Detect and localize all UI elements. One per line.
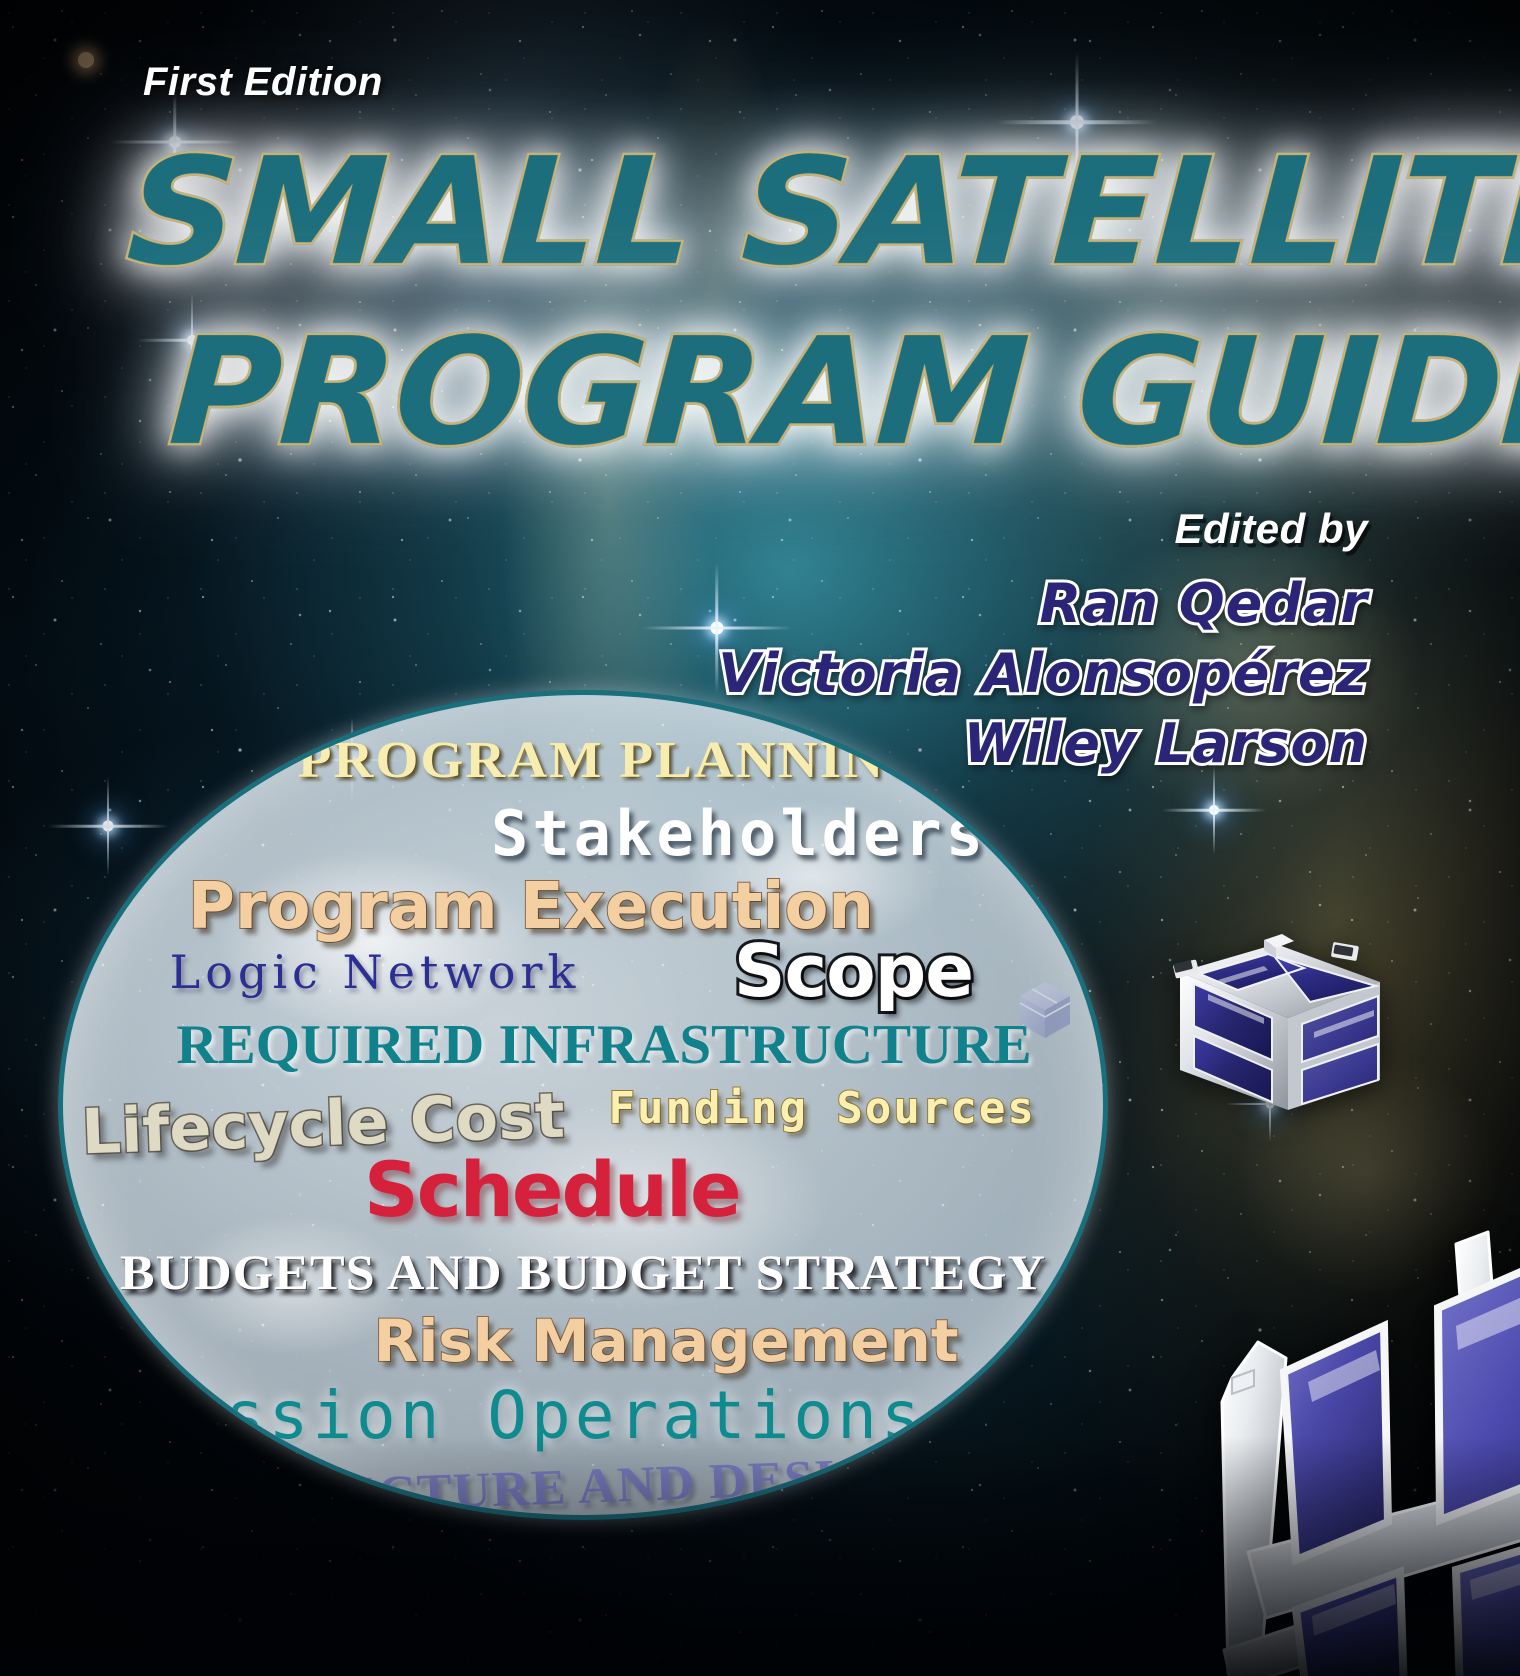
ellipse-body: PROGRAM PLANNING Stakeholders Program Ex… [58,690,1108,1520]
cloud-term-stakeholders: Stakeholders [491,797,987,870]
cloud-term-risk-management: Risk Management [374,1307,959,1375]
editor-name: Ran Qedar [1039,572,1368,635]
mini-cube-icon [1014,976,1076,1044]
word-cloud-ellipse: PROGRAM PLANNING Stakeholders Program Ex… [58,690,1108,1520]
cubesat-satellite-icon [1152,884,1382,1114]
page-title-line-2: Program Guide [165,306,1520,478]
cloud-term-logic-network: Logic Network [170,945,581,999]
cloud-term-funding-sources: Funding Sources [609,1083,1036,1134]
cloud-term-mission-operations: Mission Operations [137,1377,924,1454]
edited-by-label: Edited by [1174,505,1368,553]
cloud-term-budgets-strategy: BUDGETS AND BUDGET STRATEGY [120,1243,1046,1301]
book-cover: First Edition Small Satellite Program Gu… [0,0,1520,1676]
cloud-term-program-planning: PROGRAM PLANNING [298,731,931,790]
cloud-term-schedule: Schedule [364,1145,740,1234]
large-satellite-icon [1188,1222,1520,1676]
cloud-term-scope: Scope [734,929,973,1013]
cloud-term-required-infrastructure: REQUIRED INFRASTRUCTURE [176,1013,1031,1077]
edition-label: First Edition [143,60,383,105]
page-title-line-1: Small Satellite [123,126,1520,298]
